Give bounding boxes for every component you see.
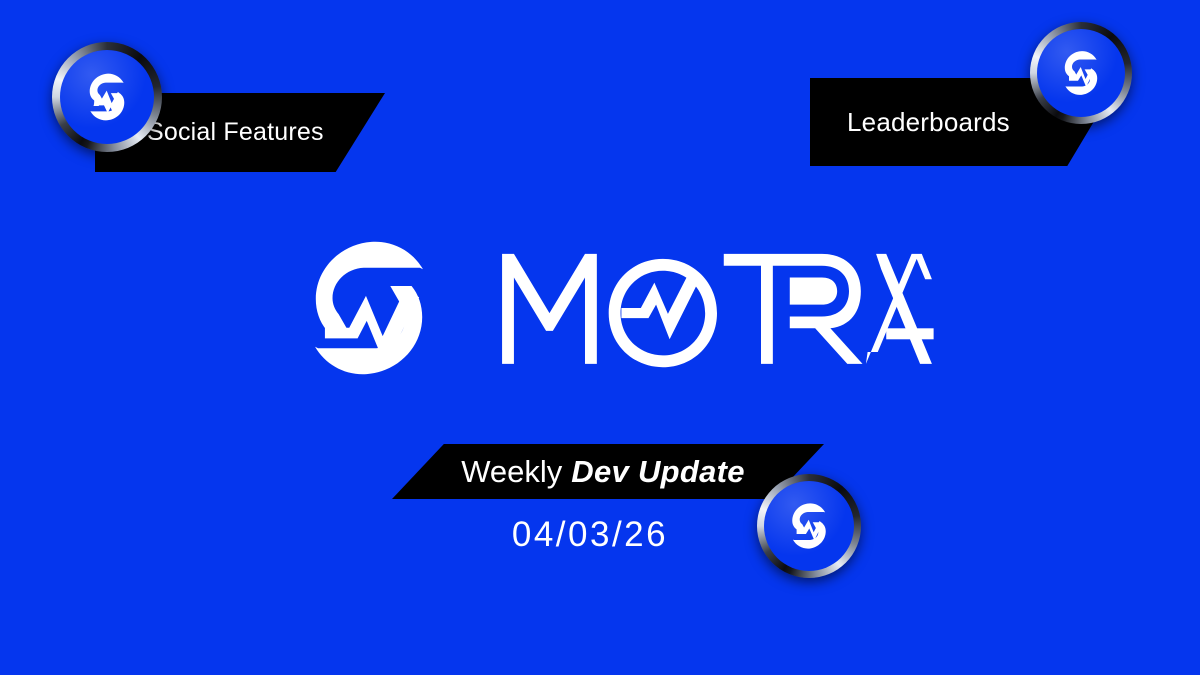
- footer-title: Weekly Dev Update: [461, 454, 745, 490]
- motra-coin-icon-leaderboards: [1030, 22, 1132, 124]
- footer-date: 04/03/26: [0, 515, 1180, 555]
- motra-coin-icon-social: [52, 42, 162, 152]
- footer-title-regular: Weekly: [461, 454, 562, 490]
- footer-title-emphasis: Dev Update: [571, 454, 745, 490]
- dev-update-slide: Social Features Leaderboards: [0, 0, 1200, 675]
- motra-logo-lockup: [293, 232, 937, 384]
- badge-leaderboards-label: Leaderboards: [847, 107, 1010, 138]
- coin-face: [1037, 29, 1125, 117]
- motra-sm-monogram-icon: [1051, 43, 1111, 103]
- motra-sm-monogram-icon: [75, 65, 139, 129]
- footer-title-banner: Weekly Dev Update: [392, 444, 824, 499]
- badge-social-features-label: Social Features: [147, 118, 324, 147]
- motra-wordmark: [497, 247, 937, 369]
- motra-logomark-icon: [293, 232, 445, 384]
- motra-sm-monogram-icon: [778, 495, 840, 557]
- coin-face: [60, 50, 154, 144]
